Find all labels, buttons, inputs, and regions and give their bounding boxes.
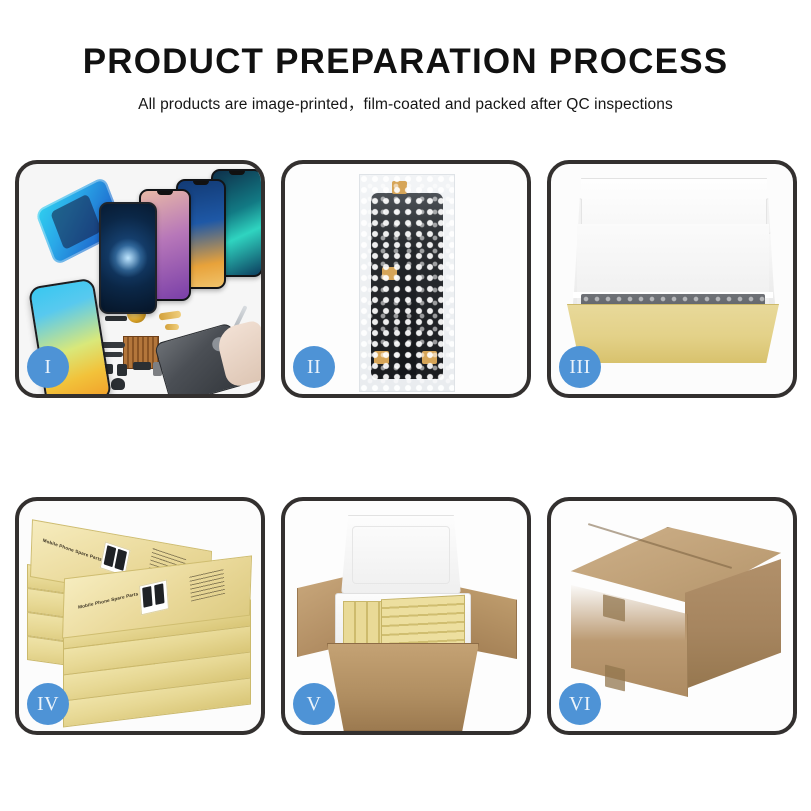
step-badge: I	[27, 346, 69, 388]
box-label-rear: Mobile Phone Spare Parts	[42, 538, 102, 563]
step-badge: VI	[559, 683, 601, 725]
box-tray-kraft	[567, 304, 779, 363]
part-earpiece	[105, 316, 127, 321]
step-panel-carton-with-foam-box[interactable]: V	[281, 497, 531, 735]
flex-cable-gold-1	[159, 311, 182, 321]
page-subtitle: All products are image-printed，film-coat…	[0, 92, 811, 114]
page-header: PRODUCT PREPARATION PROCESS All products…	[0, 0, 811, 114]
box-spec-lines-front	[189, 568, 225, 601]
box-label-front: Mobile Phone Spare Parts	[78, 591, 139, 610]
carton-body	[327, 643, 479, 731]
step-badge: V	[293, 683, 335, 725]
phone-front-glass	[99, 202, 157, 314]
carton-tape-patch-lower	[605, 665, 625, 692]
carton-front-face	[571, 585, 688, 697]
bubble-texture-overlay	[360, 175, 454, 391]
box-thumb-front-1	[139, 579, 169, 615]
process-steps-grid: I II III	[15, 160, 796, 735]
part-connector	[133, 362, 151, 370]
step-panel-open-kraft-box[interactable]: III	[547, 160, 797, 398]
part-button-2	[117, 364, 127, 376]
step-panel-phone-parts-collage[interactable]: I	[15, 160, 265, 398]
flex-cable-gold-2	[165, 324, 179, 330]
flex-cable-2	[103, 352, 123, 357]
step-badge: IV	[27, 683, 69, 725]
step-panel-bubble-wrapped-screen[interactable]: II	[281, 160, 531, 398]
step-badge: III	[559, 346, 601, 388]
step-panel-sealed-shipping-carton[interactable]: VI	[547, 497, 797, 735]
step-badge: II	[293, 346, 335, 388]
step-panel-stacked-gold-boxes[interactable]: Mobile Phone Spare Parts Mobile Phone Sp…	[15, 497, 265, 735]
part-camera-module	[111, 378, 125, 390]
bubble-bag	[359, 174, 455, 392]
page-title: PRODUCT PREPARATION PROCESS	[0, 44, 811, 79]
foam-box-lid	[341, 515, 461, 595]
